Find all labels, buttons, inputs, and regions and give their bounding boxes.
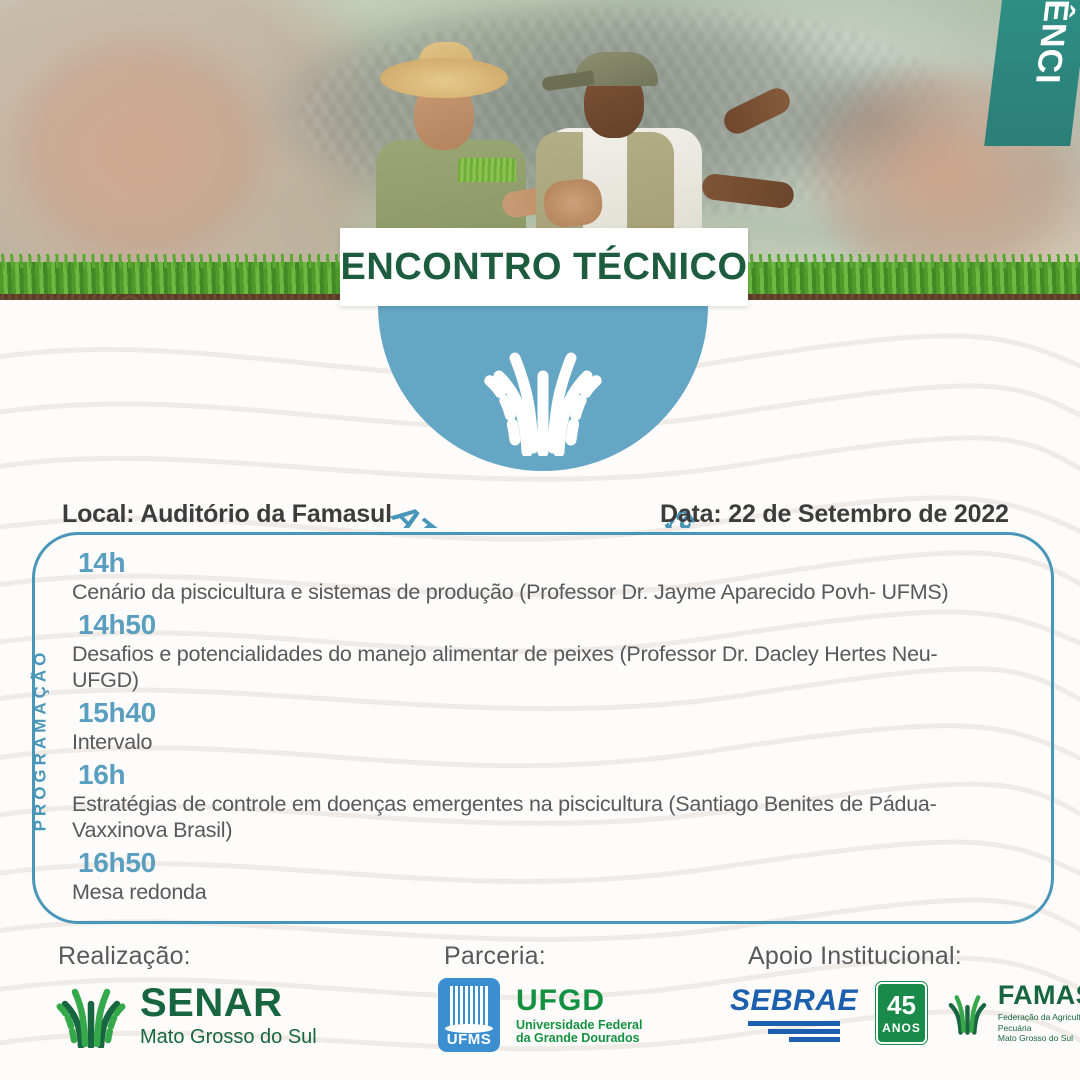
45-anos-badge: 45 ANOS [876,982,927,1044]
anos-word: ANOS [882,1021,921,1035]
anos-number: 45 [887,992,916,1018]
schedule-vertical-label: PROGRAMAÇÃO [22,600,58,880]
sebrae-name: SEBRAE [730,984,858,1018]
famasul-logo: FAMASUL Federação da Agricultura e Pecuá… [945,982,1080,1044]
senar-wordmark: SENAR Mato Grosso do Sul [140,983,317,1047]
schedule-list: 14h Cenário da piscicultura e sistemas d… [72,546,1022,908]
famasul-name: FAMASUL [998,982,1080,1009]
schedule-time: 15h40 [78,696,1022,729]
event-location: Local: Auditório da Famasul [62,500,392,529]
schedule-item: 15h40 Intervalo [72,696,1022,756]
schedule-description: Cenário da piscicultura e sistemas de pr… [72,579,1004,606]
senar-wheat-icon-green [52,982,130,1048]
event-poster: ÊNCI ENCO [0,0,1080,1080]
schedule-description: Mesa redonda [72,879,1004,906]
schedule-item: 14h Cenário da piscicultura e sistemas d… [72,546,1022,606]
sponsors-footer: Realização: SENAR Mato Grosso do Sul [0,930,1080,1080]
teal-banner-fragment: ÊNCI [984,0,1080,146]
famasul-subtitle: Federação da Agricultura e PecuáriaMato … [998,1012,1080,1044]
teal-banner-text: ÊNCI [1025,0,1080,85]
ufms-building-icon [450,986,488,1028]
sebrae-bars-icon [748,1018,840,1042]
apoio-title: Apoio Institucional: [748,942,962,971]
grass-tuft [458,158,516,182]
ufgd-name: UFGD [516,985,642,1017]
page-title: ENCONTRO TÉCNICO [341,246,748,289]
realizacao-column: Realização: [58,942,191,971]
partner-logos: UFMS UFGD Universidade Federalda Grande … [438,978,642,1052]
ufms-logo: UFMS [438,978,500,1052]
title-banner: ENCONTRO TÉCNICO [340,228,748,306]
event-info-line: Local: Auditório da Famasul Data: 22 de … [0,496,1080,532]
schedule-item: 14h50 Desafios e potencialidades do mane… [72,608,1022,694]
schedule-time: 14h [78,546,1022,579]
schedule-item: 16h Estratégias de controle em doenças e… [72,758,1022,844]
apoio-column: Apoio Institucional: [748,942,962,971]
schedule-description: Intervalo [72,729,1004,756]
famasul-wordmark: FAMASUL Federação da Agricultura e Pecuá… [998,982,1080,1044]
sebrae-logo: SEBRAE [730,984,858,1042]
senar-subtitle: Mato Grosso do Sul [140,1027,317,1047]
schedule-time: 16h50 [78,846,1022,879]
schedule-description: Desafios e potencialidades do manejo ali… [72,641,1004,694]
schedule-label-text: PROGRAMAÇÃO [30,649,50,832]
ufms-name: UFMS [447,1031,492,1048]
schedule-item: 16h50 Mesa redonda [72,846,1022,906]
straw-hat-brim [380,58,508,98]
parceria-title: Parceria: [444,942,546,971]
ufgd-logo: UFGD Universidade Federalda Grande Doura… [516,985,642,1046]
ufms-base-icon [445,1024,493,1033]
support-logos: SEBRAE 45 ANOS [730,982,1080,1044]
schedule-time: 16h [78,758,1022,791]
schedule-description: Estratégias de controle em doenças emerg… [72,791,1004,844]
schedule-time: 14h50 [78,608,1022,641]
parceria-column: Parceria: [444,942,546,971]
event-date: Data: 22 de Setembro de 2022 [660,500,1009,529]
ufgd-subtitle: Universidade Federalda Grande Dourados [516,1019,642,1045]
famasul-wheat-icon [945,991,990,1035]
senar-name: SENAR [140,983,317,1023]
senar-logo: SENAR Mato Grosso do Sul [52,982,317,1048]
realizacao-title: Realização: [58,942,191,971]
